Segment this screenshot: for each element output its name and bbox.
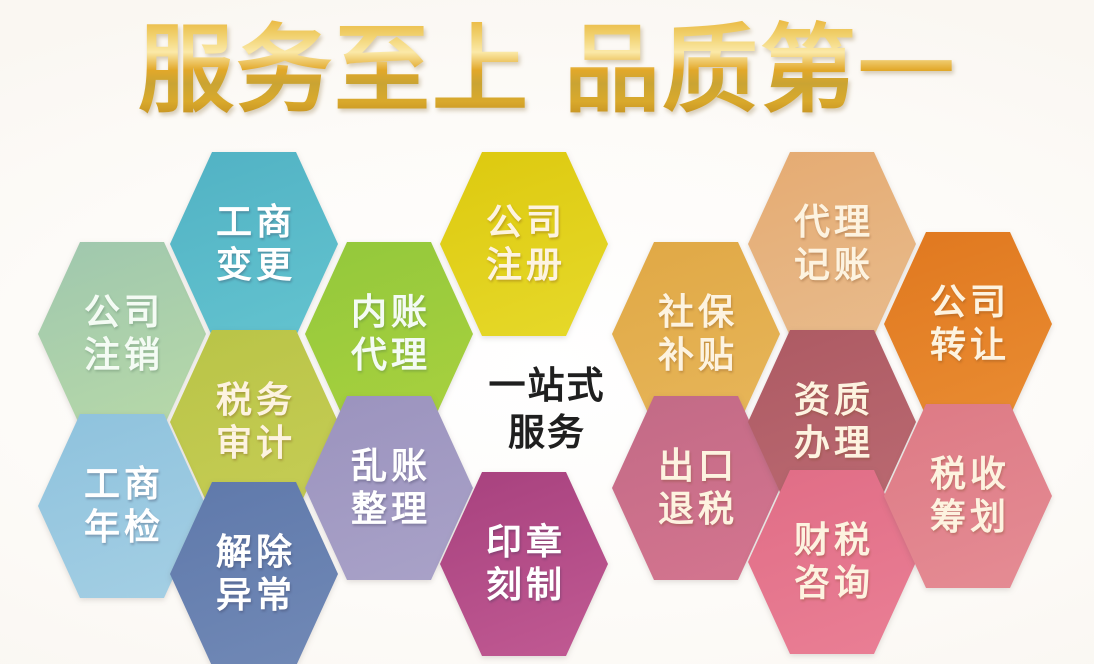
service-label-line2: 刻制 <box>482 564 566 607</box>
service-label-line1: 代理 <box>790 201 874 244</box>
service-label-line1: 乱账 <box>347 445 431 488</box>
poster-canvas: 服务至上品质第一 公司注销工商变更内账代理公司注册社保补贴代理记账公司转让税务审… <box>0 0 1094 664</box>
service-label-line1: 公司 <box>482 201 566 244</box>
service-label-line1: 印章 <box>482 521 566 564</box>
center-caption-line1: 一站式 <box>462 362 632 409</box>
service-label-line1: 财税 <box>790 519 874 562</box>
service-label-line2: 异常 <box>212 574 296 617</box>
service-label-line2: 注销 <box>80 334 164 377</box>
service-label-line1: 工商 <box>212 201 296 244</box>
service-label-line2: 退税 <box>654 488 738 531</box>
service-label-line2: 整理 <box>347 488 431 531</box>
service-label-line1: 工商 <box>80 463 164 506</box>
service-label-line2: 补贴 <box>654 334 738 377</box>
service-label-line2: 年检 <box>80 506 164 549</box>
service-label-line1: 公司 <box>926 281 1010 324</box>
page-title: 服务至上品质第一 <box>0 14 1094 126</box>
service-label-line2: 变更 <box>212 244 296 287</box>
service-hexagon-gongsi-zhuce[interactable]: 公司注册 <box>440 152 608 336</box>
service-label-line2: 审计 <box>212 422 296 465</box>
service-hexagon-yinzhang-kezhi[interactable]: 印章刻制 <box>440 472 608 656</box>
service-label-line1: 社保 <box>654 291 738 334</box>
service-label-line2: 记账 <box>790 244 874 287</box>
service-label-line1: 公司 <box>80 291 164 334</box>
service-label-line1: 解除 <box>212 531 296 574</box>
page-title-right: 品质第一 <box>564 14 956 126</box>
service-label-line2: 代理 <box>347 334 431 377</box>
center-caption-line2: 服务 <box>462 409 632 456</box>
service-label-line1: 内账 <box>347 291 431 334</box>
service-label-line2: 注册 <box>482 244 566 287</box>
service-label-line2: 筹划 <box>926 496 1010 539</box>
service-label-line2: 转让 <box>926 324 1010 367</box>
hexagon-shape: 公司注册 <box>440 152 608 336</box>
hexagon-shape: 税收筹划 <box>884 404 1052 588</box>
center-caption: 一站式 服务 <box>462 362 632 456</box>
service-label-line2: 办理 <box>790 422 874 465</box>
service-label-line1: 资质 <box>790 379 874 422</box>
service-label-line1: 出口 <box>654 445 738 488</box>
service-label-line1: 税务 <box>212 379 296 422</box>
service-label-line1: 税收 <box>926 453 1010 496</box>
page-title-left: 服务至上 <box>138 14 530 126</box>
service-hexagon-shuishou-chouhua[interactable]: 税收筹划 <box>884 404 1052 588</box>
hexagon-shape: 印章刻制 <box>440 472 608 656</box>
service-label-line2: 咨询 <box>790 562 874 605</box>
